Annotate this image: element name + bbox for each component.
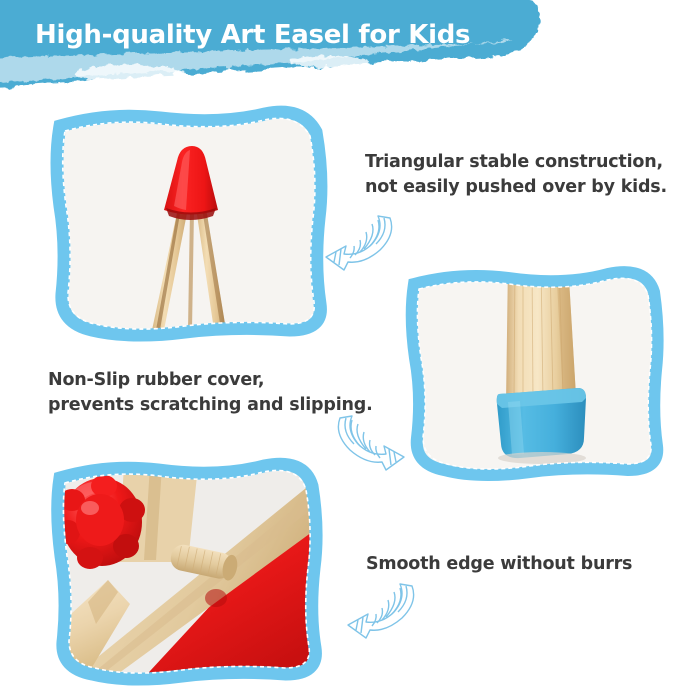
easel-tripod-photo-frame xyxy=(40,98,338,350)
rubber-foot-photo xyxy=(396,262,672,486)
arrow-to-rubber-foot-photo xyxy=(326,412,410,483)
rubber-foot-photo-frame xyxy=(396,262,672,486)
page-title: High-quality Art Easel for Kids xyxy=(35,18,535,52)
caption-smooth-edge: Smooth edge without burrs xyxy=(366,552,632,577)
header-banner: High-quality Art Easel for Kids xyxy=(0,0,679,96)
smooth-edge-photo xyxy=(38,452,344,684)
arrow-to-smooth-edge-photo xyxy=(344,580,428,651)
arrow-to-tripod-photo xyxy=(322,212,406,283)
caption-non-slip: Non-Slip rubber cover, prevents scratchi… xyxy=(48,368,373,418)
smooth-edge-photo-frame xyxy=(38,452,344,684)
caption-triangular: Triangular stable construction, not easi… xyxy=(365,150,667,200)
easel-tripod-photo xyxy=(40,98,338,350)
